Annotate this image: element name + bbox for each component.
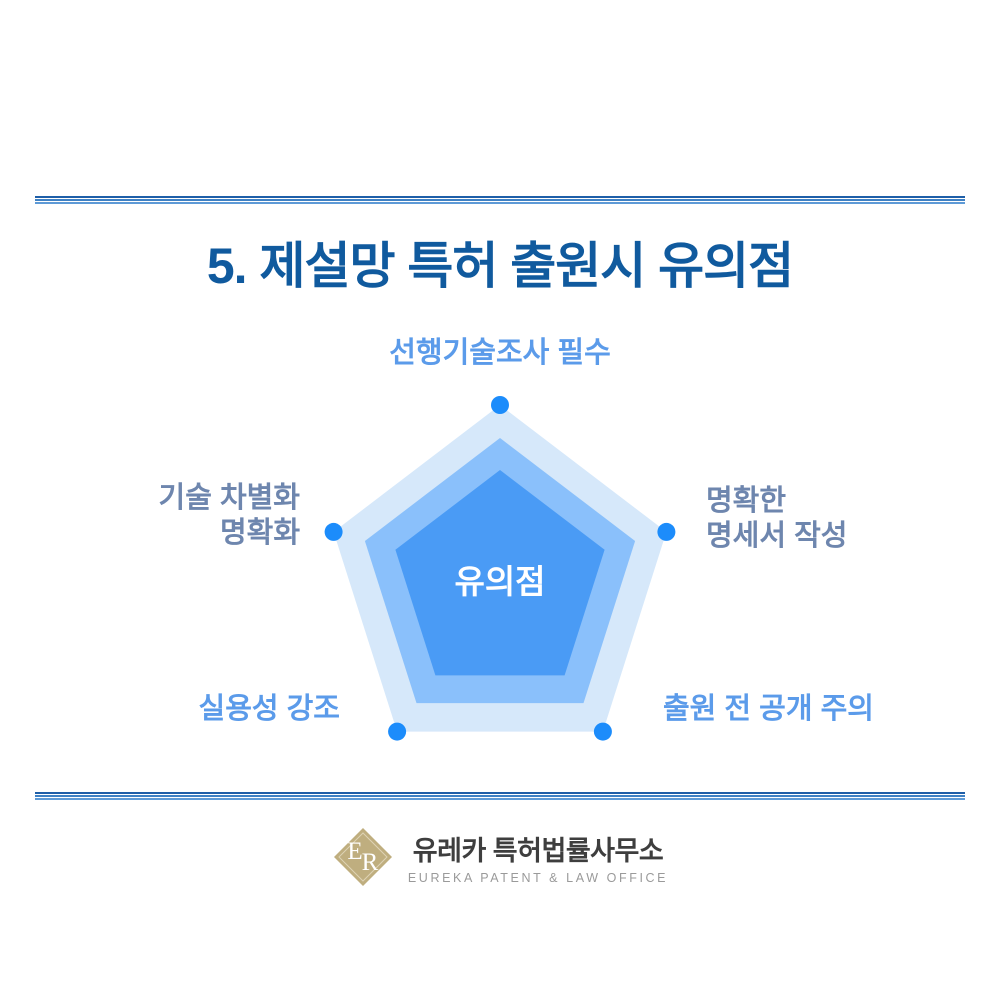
vertex-dot-top[interactable] <box>491 396 509 414</box>
divider-line-3 <box>35 202 965 204</box>
pentagon-label-top[interactable]: 선행기술조사 필수 <box>0 336 1000 371</box>
pentagon-label-right[interactable]: 명확한 명세서 작성 <box>706 484 966 555</box>
pentagon-diagram: 유의점 선행기술조사 필수 기술 차별화 명확화 명확한 명세서 작성 실용성 … <box>0 300 1000 780</box>
slide-root: 5. 제설망 특허 출원시 유의점 유의점 선행기술조사 필수 기술 차별화 명… <box>0 0 1000 1000</box>
divider-line-1 <box>35 792 965 794</box>
vertex-dot-right[interactable] <box>657 523 675 541</box>
divider-line-2 <box>35 795 965 797</box>
divider-line-3 <box>35 798 965 800</box>
logo-name-english: EUREKA PATENT & LAW OFFICE <box>408 871 668 885</box>
monogram-letter-e: E <box>347 838 362 865</box>
vertex-dot-bottom-left[interactable] <box>388 723 406 741</box>
pentagon-label-left[interactable]: 기술 차별화 명확화 <box>60 481 300 552</box>
pentagon-label-bottom-left[interactable]: 실용성 강조 <box>70 692 340 727</box>
logo-text-block: 유레카 특허법률사무소 EUREKA PATENT & LAW OFFICE <box>408 829 668 885</box>
pentagon-label-bottom-right[interactable]: 출원 전 공개 주의 <box>663 692 953 727</box>
monogram-letter-r: R <box>362 849 379 876</box>
vertex-dot-left[interactable] <box>325 523 343 541</box>
divider-bottom <box>35 792 965 801</box>
divider-top <box>35 196 965 205</box>
logo-name-korean: 유레카 특허법률사무소 <box>413 829 663 868</box>
eureka-diamond-icon: E R <box>332 826 394 888</box>
pentagon-center-label: 유의점 <box>0 555 1000 603</box>
page-title: 5. 제설망 특허 출원시 유의점 <box>0 226 1000 298</box>
divider-line-1 <box>35 196 965 198</box>
footer-logo: E R 유레카 특허법률사무소 EUREKA PATENT & LAW OFFI… <box>0 826 1000 888</box>
divider-line-2 <box>35 199 965 201</box>
vertex-dot-bottom-right[interactable] <box>594 723 612 741</box>
